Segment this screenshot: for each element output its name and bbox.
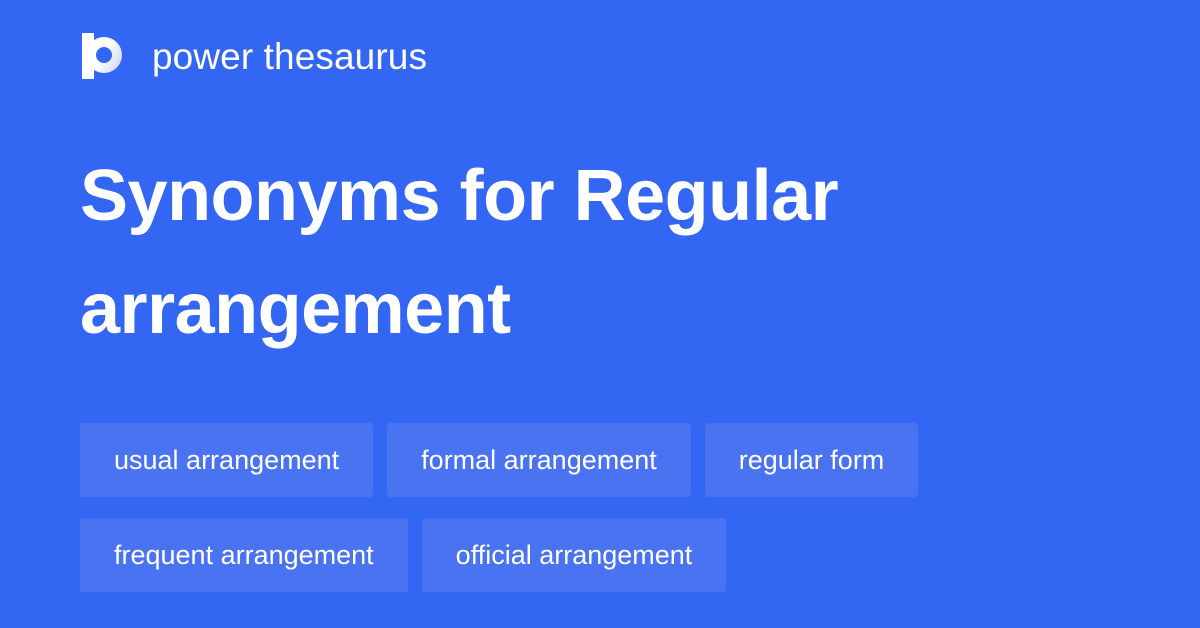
synonym-chip-row: usual arrangement formal arrangement reg… [80,423,1120,497]
synonym-chip[interactable]: formal arrangement [387,423,691,497]
power-thesaurus-b-logo-icon [80,31,130,81]
brand-name: power thesaurus [152,38,427,75]
synonyms-share-card: power thesaurus Synonyms for Regular arr… [0,0,1200,628]
synonym-chip-list: usual arrangement formal arrangement reg… [80,423,1120,592]
synonym-chip-row: frequent arrangement official arrangemen… [80,518,1120,592]
brand-header[interactable]: power thesaurus [80,28,427,84]
page-title: Synonyms for Regular arrangement [80,140,1110,366]
synonym-chip[interactable]: official arrangement [422,518,727,592]
synonym-chip[interactable]: frequent arrangement [80,518,408,592]
synonym-chip[interactable]: regular form [705,423,919,497]
synonym-chip[interactable]: usual arrangement [80,423,373,497]
